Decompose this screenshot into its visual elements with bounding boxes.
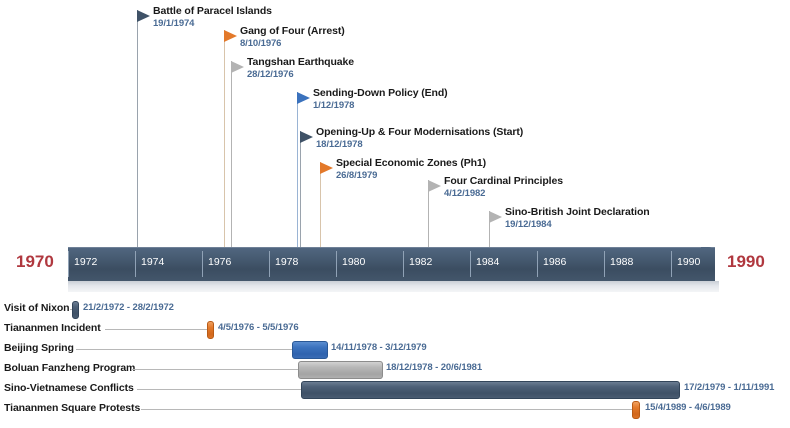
task-date-range: 14/11/1978 - 3/12/1979: [331, 342, 427, 353]
task-date-range: 18/12/1978 - 20/6/1981: [386, 362, 482, 373]
task-date-range: 21/2/1972 - 28/2/1972: [83, 302, 174, 313]
timeline-axis: 1972 1974 1976 1978 1980 1982 1984 1986 …: [68, 247, 715, 281]
axis-tick-label: 1980: [342, 256, 365, 268]
milestone-date: 4/12/1982: [444, 188, 485, 199]
milestone-label: Opening-Up & Four Modernisations (Start): [316, 126, 523, 138]
axis-tick-label: 1990: [677, 256, 700, 268]
milestone-label: Tangshan Earthquake: [247, 56, 354, 68]
axis-tick: [202, 251, 203, 277]
task-row[interactable]: Visit of Nixon 21/2/1972 - 28/2/1972: [0, 298, 790, 320]
task-date-range: 15/4/1989 - 4/6/1989: [645, 402, 731, 413]
task-label: Tiananmen Incident: [4, 322, 101, 334]
milestone-flag-icon: [297, 92, 310, 104]
milestone-pole: [137, 10, 138, 250]
task-leader-line: [137, 389, 301, 390]
axis-shadow: [68, 281, 719, 292]
milestone-date: 26/8/1979: [336, 170, 377, 181]
milestone-label: Special Economic Zones (Ph1): [336, 157, 486, 169]
milestone-flag-icon: [224, 30, 237, 42]
task-date-range: 17/2/1979 - 1/11/1991: [684, 382, 774, 393]
task-leader-line: [141, 409, 632, 410]
axis-tick: [671, 251, 672, 277]
milestone-date: 19/12/1984: [505, 219, 552, 230]
task-leader-line: [105, 329, 207, 330]
milestone-pole: [297, 92, 298, 250]
axis-tick-label: 1972: [74, 256, 97, 268]
task-bar[interactable]: [301, 381, 680, 399]
axis-end-year: 1990: [727, 252, 765, 272]
milestone-date: 8/10/1976: [240, 38, 281, 49]
task-row[interactable]: Tiananmen Incident 4/5/1976 - 5/5/1976: [0, 318, 790, 340]
task-row[interactable]: Boluan Fanzheng Program 18/12/1978 - 20/…: [0, 358, 790, 380]
milestone-flag-icon: [489, 211, 502, 223]
milestone-pole: [224, 30, 225, 250]
axis-end-cap: [701, 247, 715, 281]
axis-tick: [269, 251, 270, 277]
milestone-label: Sino-British Joint Declaration: [505, 206, 650, 218]
task-label: Boluan Fanzheng Program: [4, 362, 135, 374]
milestone-label: Gang of Four (Arrest): [240, 25, 345, 37]
task-label: Beijing Spring: [4, 342, 74, 354]
milestone-flag-icon: [320, 162, 333, 174]
axis-tick: [403, 251, 404, 277]
task-bar[interactable]: [72, 301, 79, 319]
axis-tick: [336, 251, 337, 277]
axis-tick-label: 1978: [275, 256, 298, 268]
task-row[interactable]: Beijing Spring 14/11/1978 - 3/12/1979: [0, 338, 790, 360]
milestone-date: 19/1/1974: [153, 18, 194, 29]
milestone-pole: [231, 61, 232, 250]
task-bar[interactable]: [632, 401, 640, 419]
task-bar[interactable]: [292, 341, 328, 359]
milestone-flag-icon: [300, 131, 313, 143]
milestone-flag-icon: [231, 61, 244, 73]
axis-tick-label: 1976: [208, 256, 231, 268]
axis-tick: [135, 251, 136, 277]
task-bar[interactable]: [298, 361, 383, 379]
milestone-date: 1/12/1978: [313, 100, 354, 111]
milestone-date: 28/12/1976: [247, 69, 294, 80]
milestone-label: Four Cardinal Principles: [444, 175, 563, 187]
task-leader-line: [76, 349, 292, 350]
axis-tick-label: 1986: [543, 256, 566, 268]
axis-tick: [604, 251, 605, 277]
axis-start-year: 1970: [16, 252, 54, 272]
axis-tick-label: 1988: [610, 256, 633, 268]
task-row[interactable]: Tiananmen Square Protests 15/4/1989 - 4/…: [0, 398, 790, 420]
task-row[interactable]: Sino-Vietnamese Conflicts 17/2/1979 - 1/…: [0, 378, 790, 400]
timeline-chart: Battle of Paracel Islands 19/1/1974 Gang…: [0, 0, 790, 428]
axis-tick: [537, 251, 538, 277]
task-label: Visit of Nixon: [4, 302, 70, 314]
milestone-pole: [300, 131, 301, 250]
task-label: Sino-Vietnamese Conflicts: [4, 382, 134, 394]
task-date-range: 4/5/1976 - 5/5/1976: [218, 322, 299, 333]
axis-tick-label: 1982: [409, 256, 432, 268]
milestone-date: 18/12/1978: [316, 139, 363, 150]
axis-tick: [68, 251, 69, 277]
axis-tick: [470, 251, 471, 277]
axis-tick-label: 1984: [476, 256, 499, 268]
axis-tick-label: 1974: [141, 256, 164, 268]
task-label: Tiananmen Square Protests: [4, 402, 140, 414]
task-bar[interactable]: [207, 321, 214, 339]
milestone-label: Battle of Paracel Islands: [153, 5, 272, 17]
milestone-label: Sending-Down Policy (End): [313, 87, 448, 99]
milestone-pole: [320, 162, 321, 250]
milestone-flag-icon: [428, 180, 441, 192]
milestone-flag-icon: [137, 10, 150, 22]
task-leader-line: [131, 369, 298, 370]
